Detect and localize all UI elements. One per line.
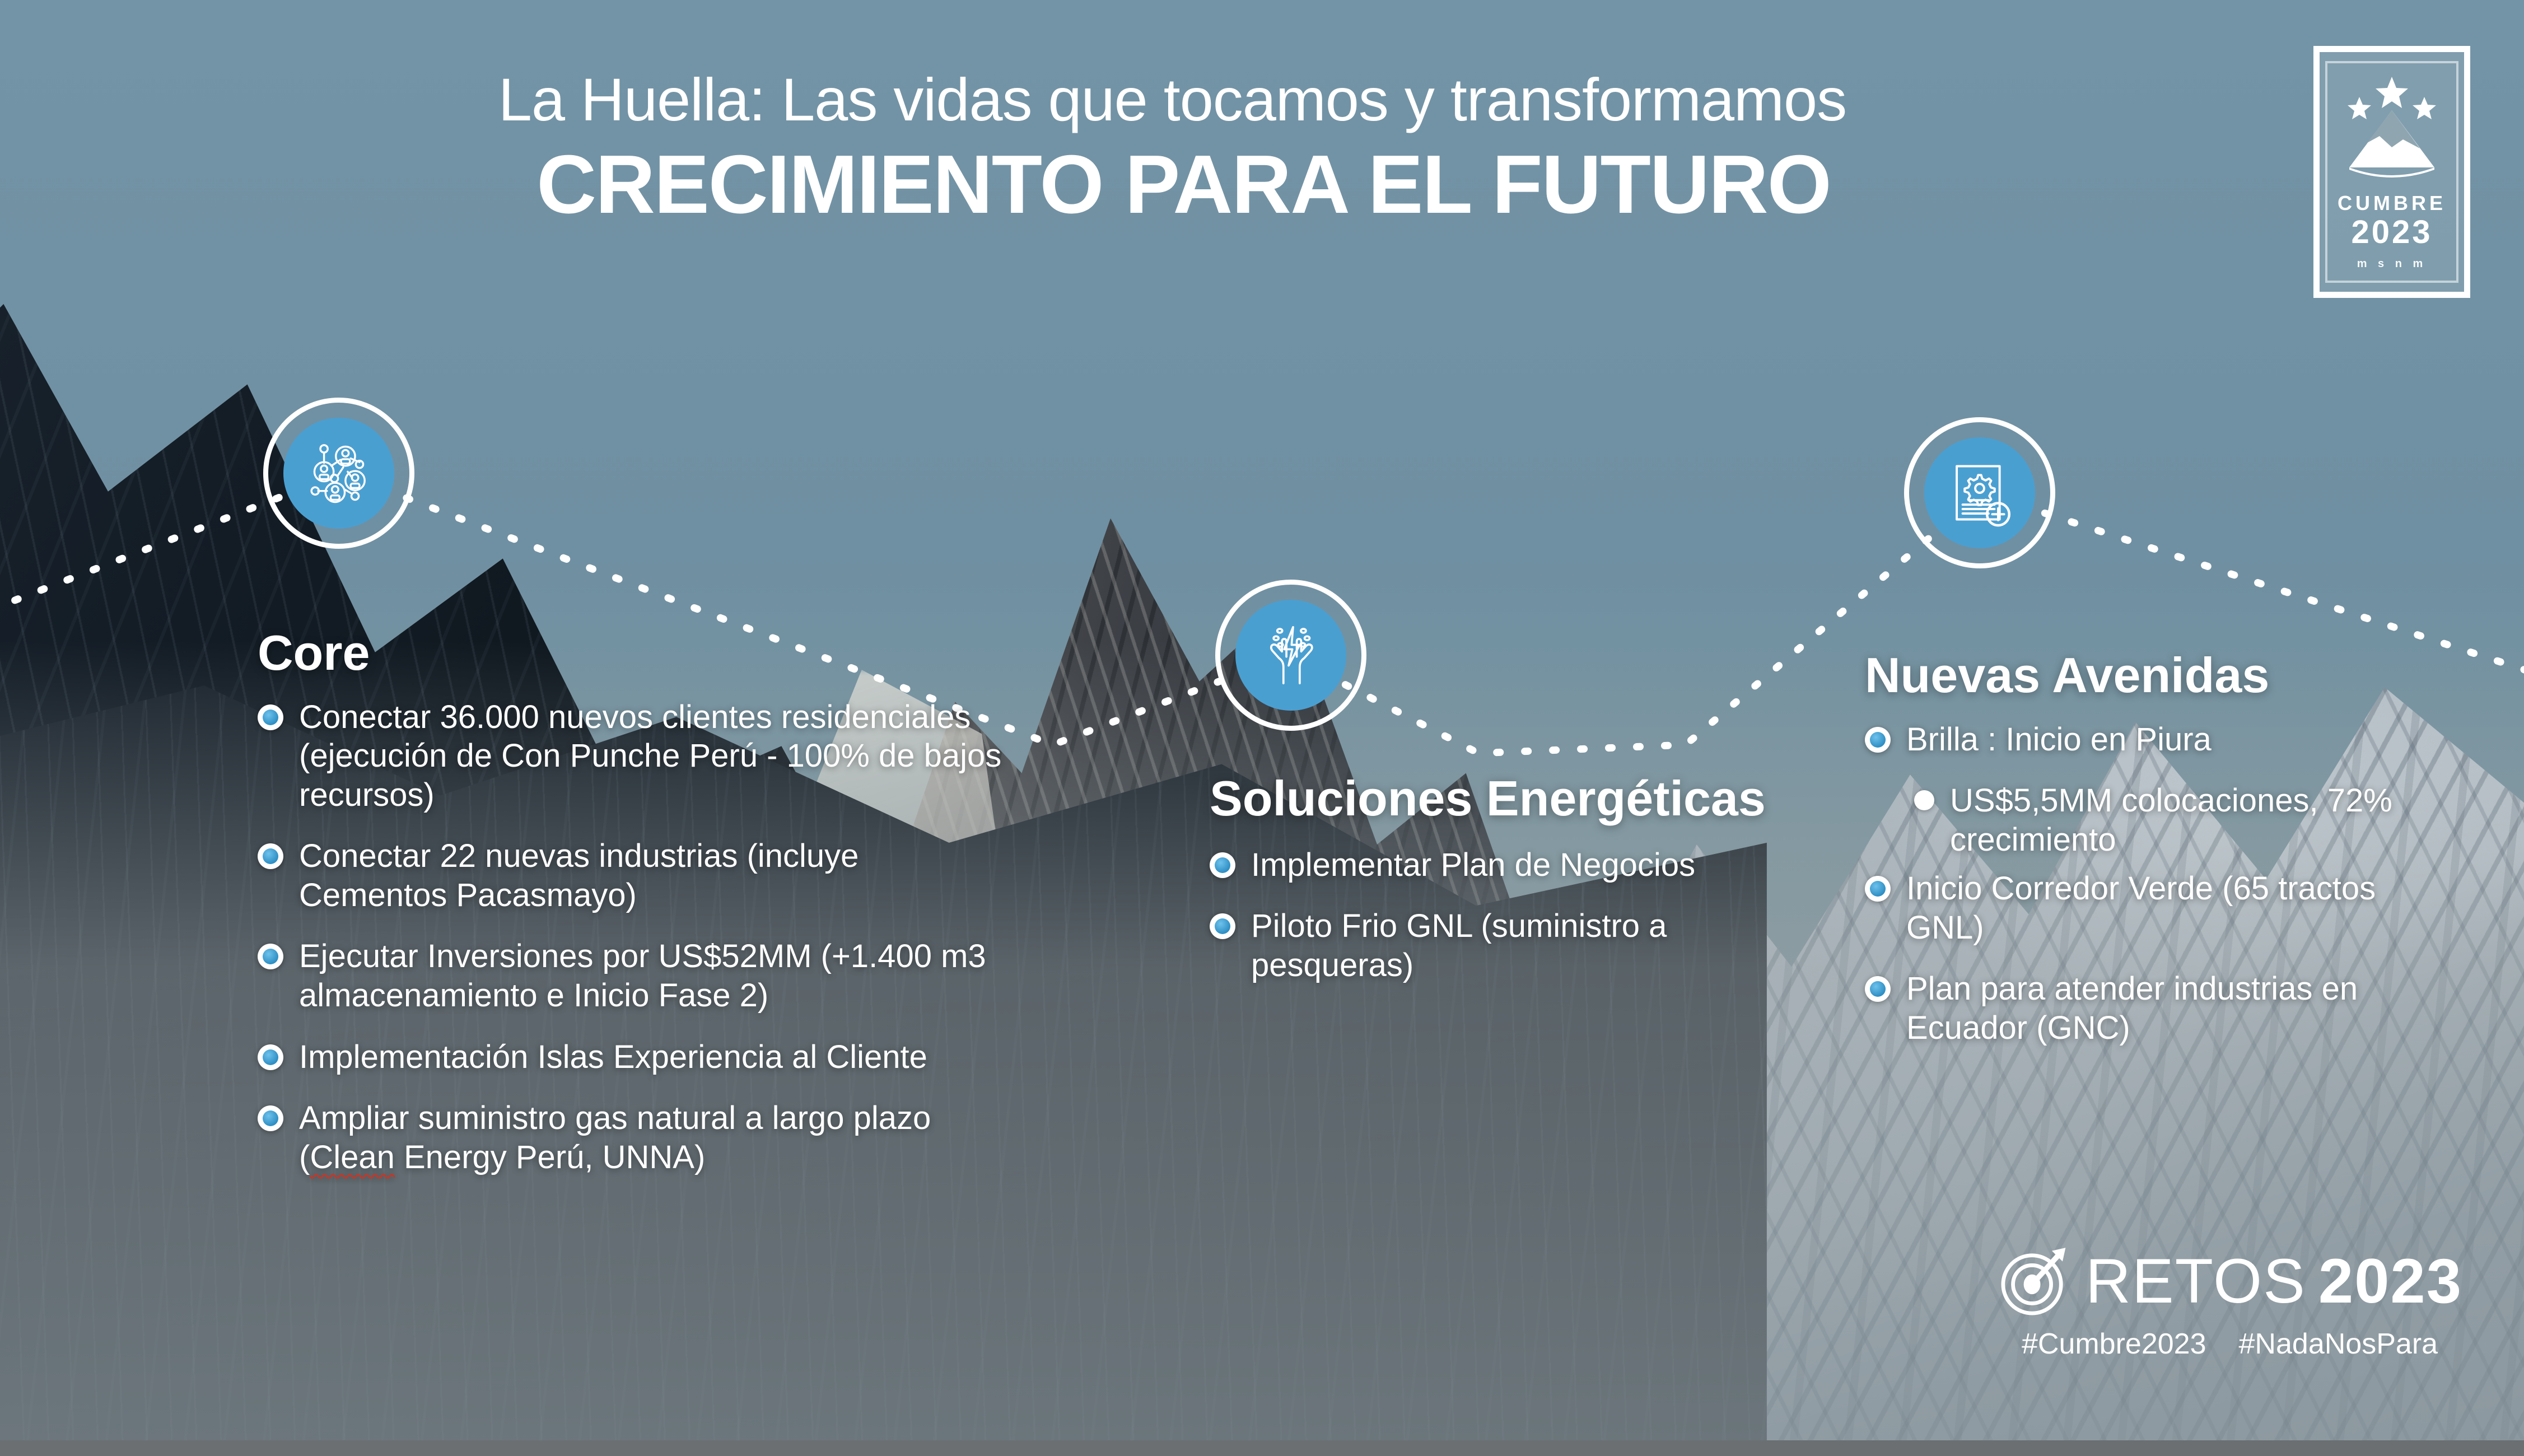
- list-item: Implementación Islas Experiencia al Clie…: [258, 1038, 1002, 1077]
- column-soluciones-energeticas: Soluciones Energéticas Implementar Plan …: [1210, 773, 1770, 1007]
- bottom-gray-bar: [0, 1440, 2524, 1456]
- list-item: Conectar 22 nuevas industrias (incluye C…: [258, 837, 1002, 914]
- cumbre-logo-inner-frame: CUMBRE 2023 m s n m: [2325, 61, 2458, 283]
- presentation-slide: La Huella: Las vidas que tocamos y trans…: [0, 0, 2524, 1456]
- column-core: Core Conectar 36.000 nuevos clientes res…: [258, 627, 1002, 1199]
- page-title: CRECIMIENTO PARA EL FUTURO: [0, 142, 2524, 228]
- retos-wordmark: RETOS 2023: [2086, 1250, 2462, 1313]
- retos-logo-row: RETOS 2023: [1997, 1243, 2462, 1319]
- list-item: Conectar 36.000 nuevos clientes residenc…: [258, 698, 1002, 815]
- list-item: Brilla : Inicio en Piura US$5,5MM coloca…: [1865, 720, 2458, 860]
- bullet-text: Ejecutar Inversiones por US$52MM (+1.400…: [299, 937, 1002, 1015]
- bullet-marker-icon: [1865, 876, 1891, 902]
- column-core-bullets: Conectar 36.000 nuevos clientes residenc…: [258, 698, 1002, 1177]
- soluciones-icon-disc: [1235, 600, 1346, 711]
- bullet-text: Implementar Plan de Negocios: [1251, 846, 1695, 885]
- hashtag-row: #Cumbre2023 #NadaNosPara: [2022, 1327, 2438, 1361]
- bullet-text: Conectar 36.000 nuevos clientes residenc…: [299, 698, 1002, 815]
- hands-energy-icon: [1254, 618, 1328, 692]
- misspelled-word: Clean: [310, 1139, 395, 1175]
- sub-bullet-marker-icon: [1914, 790, 1934, 810]
- target-arrow-icon: [1997, 1243, 2073, 1319]
- bullet-text: Piloto Frio GNL (suministro a pesqueras): [1251, 907, 1770, 984]
- bullet-text: Conectar 22 nuevas industrias (incluye C…: [299, 837, 1002, 914]
- retos-logo: RETOS 2023 #Cumbre2023 #NadaNosPara: [1997, 1243, 2462, 1361]
- bullet-text-tail: Energy Perú, UNNA): [395, 1139, 705, 1175]
- cumbre-logo-year: 2023: [2351, 216, 2432, 250]
- list-item: Plan para atender industrias en Ecuador …: [1865, 969, 2458, 1047]
- core-icon-badge: [263, 398, 414, 549]
- column-soluciones-bullets: Implementar Plan de Negocios Piloto Frio…: [1210, 846, 1770, 985]
- bullet-marker-icon: [258, 704, 283, 730]
- sub-list-item: US$5,5MM colocaciones, 72% crecimiento: [1914, 781, 2458, 859]
- column-nuevas-avenidas: Nuevas Avenidas Brilla : Inicio en Piura…: [1865, 650, 2458, 1070]
- list-item: Ejecutar Inversiones por US$52MM (+1.400…: [258, 937, 1002, 1015]
- sub-bullet-text: US$5,5MM colocaciones, 72% crecimiento: [1950, 781, 2458, 859]
- cumbre-logo-subtext: m s n m: [2357, 258, 2427, 270]
- soluciones-icon-badge: [1215, 580, 1366, 731]
- column-nuevas-bullets: Brilla : Inicio en Piura US$5,5MM coloca…: [1865, 720, 2458, 1048]
- bullet-marker-icon: [1865, 976, 1891, 1002]
- column-core-title: Core: [258, 627, 1002, 679]
- bullet-marker-icon: [1210, 852, 1235, 878]
- cumbre-logo: CUMBRE 2023 m s n m: [2313, 46, 2470, 298]
- list-item: Piloto Frio GNL (suministro a pesqueras): [1210, 907, 1770, 984]
- bullet-row: Brilla : Inicio en Piura: [1865, 720, 2458, 759]
- list-item: Inicio Corredor Verde (65 tractos GNL): [1865, 869, 2458, 947]
- bullet-text: Implementación Islas Experiencia al Clie…: [299, 1038, 927, 1077]
- hashtag-nadanospara: #NadaNosPara: [2239, 1327, 2438, 1361]
- bullet-marker-icon: [258, 944, 283, 969]
- bullet-marker-icon: [258, 1044, 283, 1070]
- network-people-icon: [302, 436, 376, 510]
- column-soluciones-title: Soluciones Energéticas: [1210, 773, 1770, 824]
- column-nuevas-title: Nuevas Avenidas: [1865, 650, 2458, 701]
- bullet-marker-icon: [1865, 727, 1891, 753]
- kicker-text: La Huella: Las vidas que tocamos y trans…: [0, 67, 2524, 133]
- cumbre-logo-word: CUMBRE: [2338, 193, 2446, 213]
- bullet-marker-icon: [1210, 913, 1235, 939]
- document-gear-plus-icon: [1943, 456, 2017, 530]
- bullet-text: Inicio Corredor Verde (65 tractos GNL): [1906, 869, 2458, 947]
- list-item: Implementar Plan de Negocios: [1210, 846, 1770, 885]
- bullet-text: Plan para atender industrias en Ecuador …: [1906, 969, 2458, 1047]
- sub-bullet-list: US$5,5MM colocaciones, 72% crecimiento: [1865, 781, 2458, 859]
- bullet-marker-icon: [258, 1105, 283, 1131]
- retos-year: 2023: [2318, 1250, 2462, 1313]
- nuevas-avenidas-icon-badge: [1904, 417, 2055, 568]
- nuevas-icon-disc: [1924, 437, 2035, 548]
- mountain-stars-icon: [2336, 73, 2448, 191]
- bullet-marker-icon: [258, 843, 283, 869]
- bullet-text: Brilla : Inicio en Piura: [1906, 720, 2212, 759]
- list-item: Ampliar suministro gas natural a largo p…: [258, 1099, 1002, 1177]
- core-icon-disc: [283, 418, 394, 529]
- hashtag-cumbre: #Cumbre2023: [2022, 1327, 2206, 1361]
- bullet-text: Ampliar suministro gas natural a largo p…: [299, 1099, 1002, 1177]
- title-block: La Huella: Las vidas que tocamos y trans…: [0, 67, 2524, 228]
- retos-word: RETOS: [2086, 1250, 2306, 1313]
